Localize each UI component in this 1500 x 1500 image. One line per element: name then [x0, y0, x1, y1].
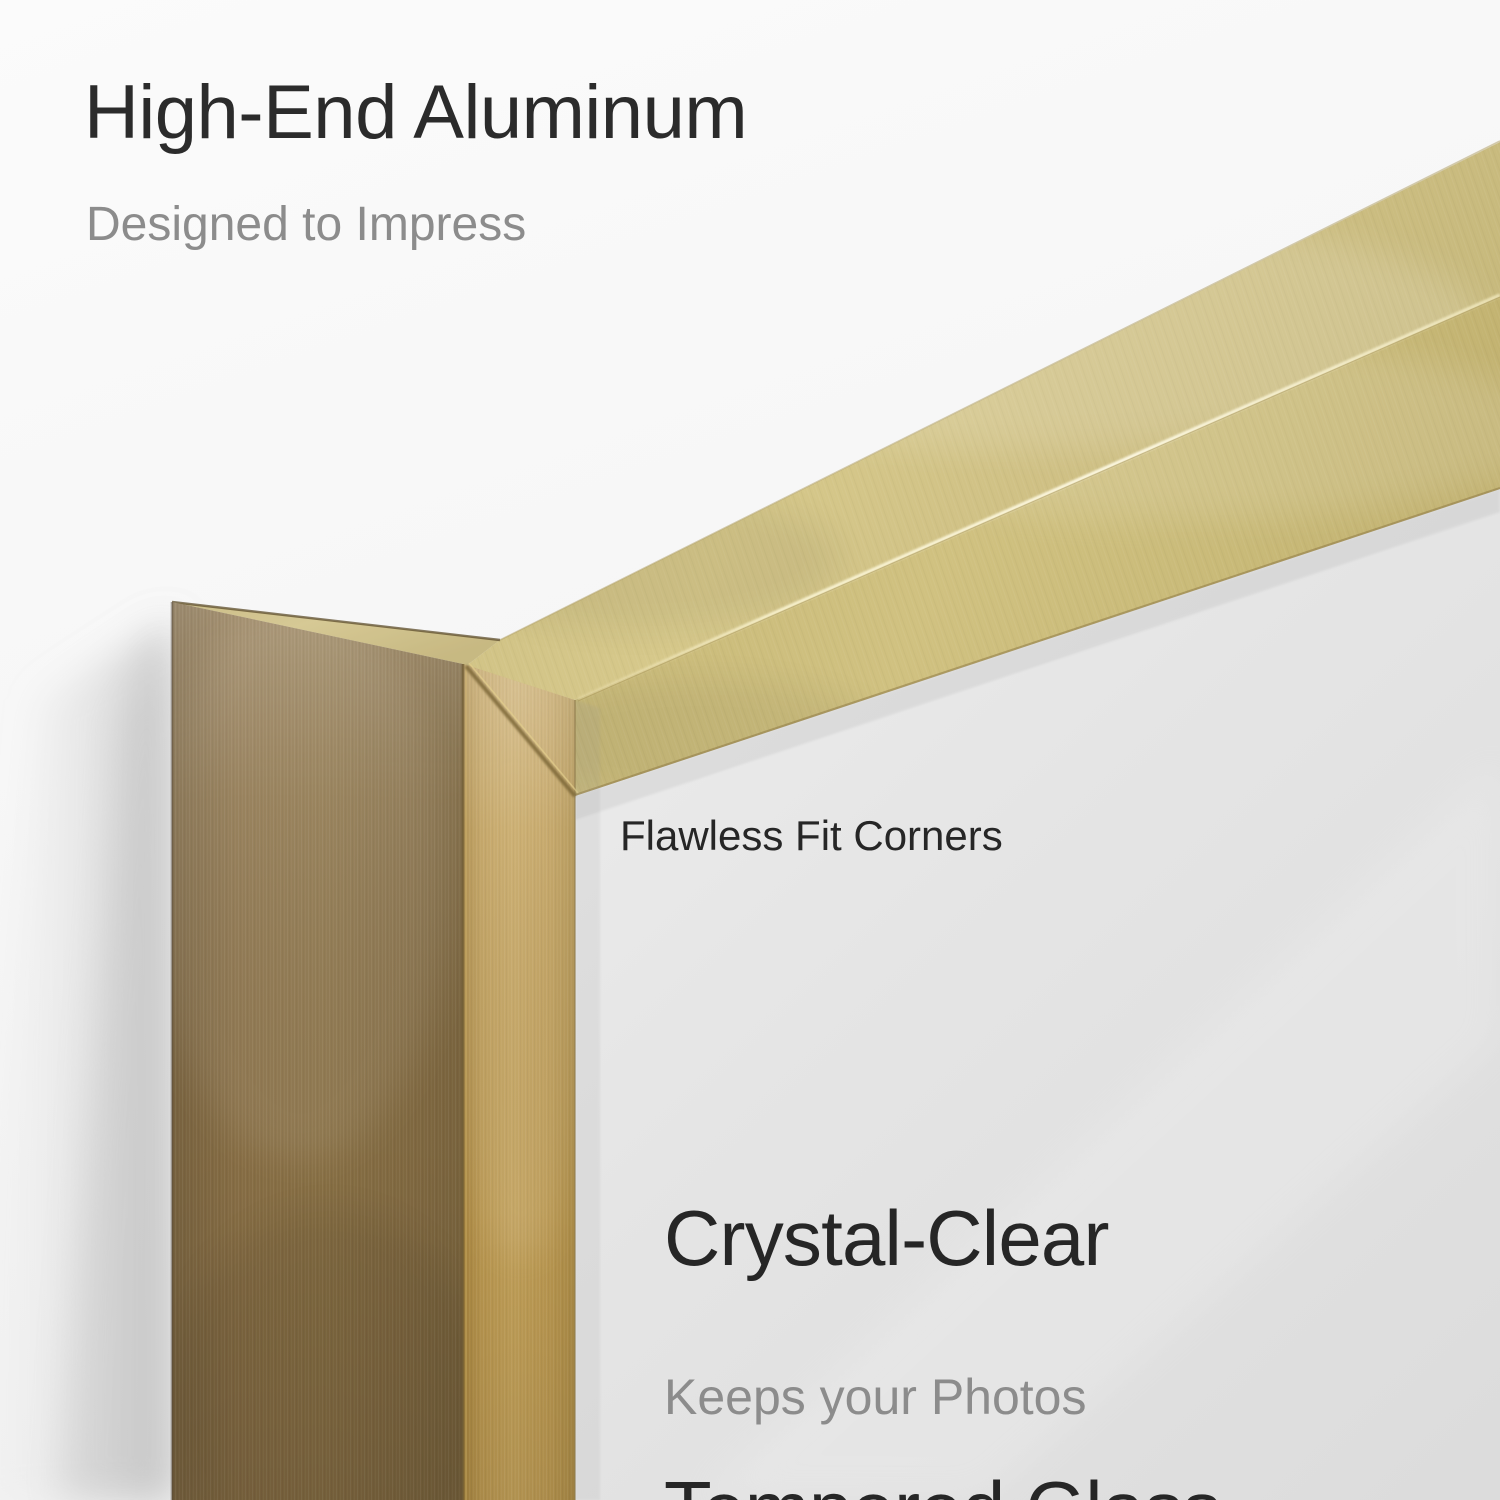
product-feature-image: High-End Aluminum Designed to Impress Fl… [0, 0, 1500, 1500]
callout-flawless-fit-corners: Flawless Fit Corners [620, 812, 1003, 860]
frame-left-rail-front-face [150, 590, 490, 1500]
frame-left-rail-side-face [450, 650, 590, 1500]
page-subtitle: Designed to Impress [86, 200, 526, 250]
callout-glass-subtitle-line-1: Keeps your Photos [664, 1368, 1087, 1426]
callout-glass-subtitle: Keeps your Photos Looking Sharp [664, 1252, 1087, 1500]
page-title: High-End Aluminum [84, 74, 747, 152]
